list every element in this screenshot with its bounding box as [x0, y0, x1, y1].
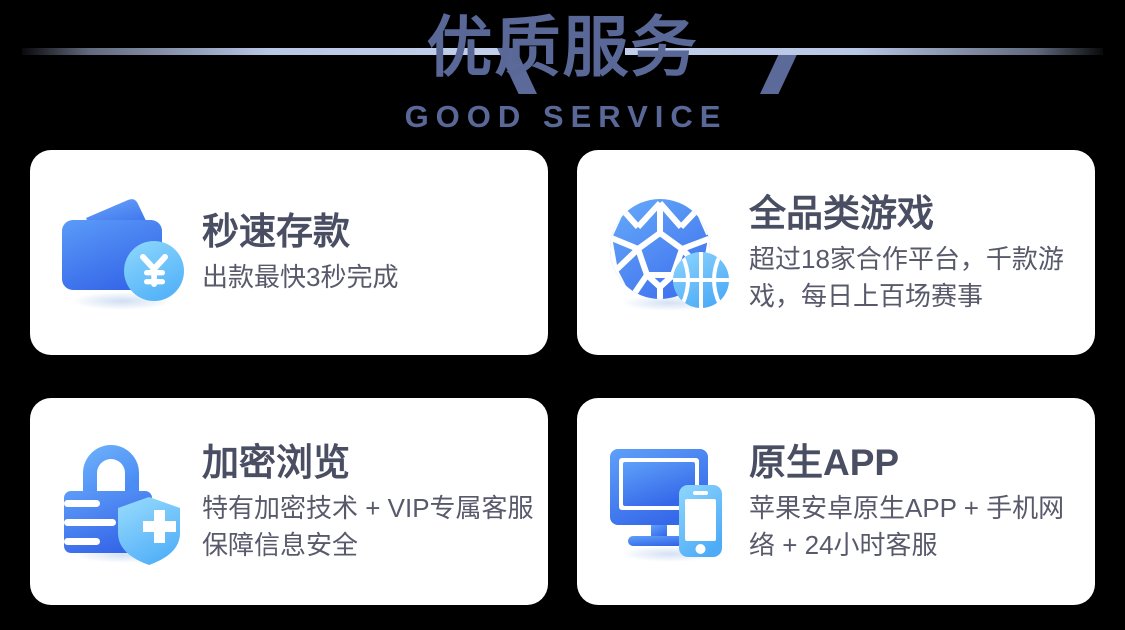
feature-card-desc: 苹果安卓原生APP + 手机网络 + 24小时客服: [749, 490, 1081, 564]
page-title: 优质服务: [0, 7, 1125, 87]
page-subtitle: GOOD SERVICE: [0, 99, 1125, 135]
feature-card-title: 原生APP: [749, 440, 1081, 486]
lock-shield-icon: [56, 436, 188, 568]
feature-card-desc: 超过18家合作平台，千款游戏，每日上百场赛事: [749, 241, 1081, 315]
feature-card-deposit[interactable]: 秒速存款 出款最快3秒完成: [30, 150, 548, 355]
feature-card-title: 加密浏览: [202, 440, 534, 486]
feature-card-grid: 秒速存款 出款最快3秒完成: [30, 150, 1095, 605]
feature-card-text: 秒速存款 出款最快3秒完成: [202, 209, 534, 296]
header: 优质服务 GOOD SERVICE: [0, 0, 1125, 145]
feature-card-encryption[interactable]: 加密浏览 特有加密技术 + VIP专属客服保障信息安全: [30, 398, 548, 605]
feature-card-title: 全品类游戏: [749, 191, 1081, 237]
feature-card-games[interactable]: 全品类游戏 超过18家合作平台，千款游戏，每日上百场赛事: [577, 150, 1095, 355]
feature-card-desc: 特有加密技术 + VIP专属客服保障信息安全: [202, 490, 534, 564]
feature-card-native-app[interactable]: 原生APP 苹果安卓原生APP + 手机网络 + 24小时客服: [577, 398, 1095, 605]
good-service-panel: 优质服务 GOOD SERVICE: [0, 0, 1125, 630]
feature-card-title: 秒速存款: [202, 209, 534, 255]
feature-card-desc: 出款最快3秒完成: [202, 259, 534, 296]
feature-card-text: 原生APP 苹果安卓原生APP + 手机网络 + 24小时客服: [749, 440, 1081, 564]
wallet-yen-icon: [56, 187, 188, 319]
feature-card-text: 加密浏览 特有加密技术 + VIP专属客服保障信息安全: [202, 440, 534, 564]
monitor-phone-icon: [603, 436, 735, 568]
feature-card-text: 全品类游戏 超过18家合作平台，千款游戏，每日上百场赛事: [749, 191, 1081, 315]
soccer-basketball-icon: [603, 187, 735, 319]
